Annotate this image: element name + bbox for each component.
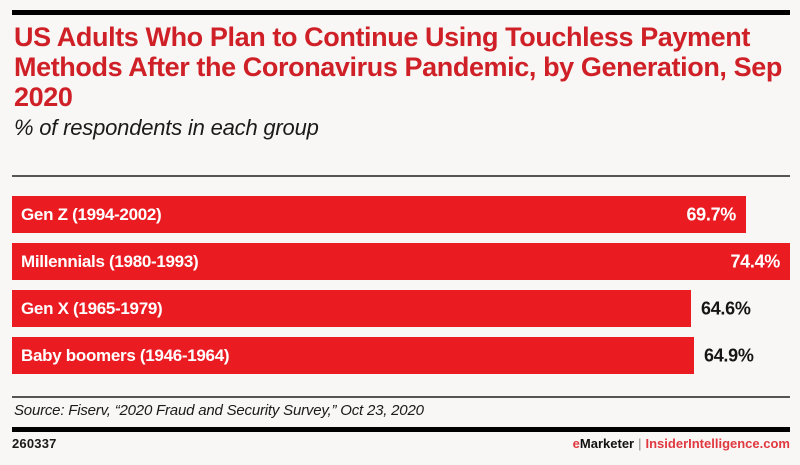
bar-millennials[interactable]: Millennials (1980-1993) 74.4% — [12, 243, 790, 280]
bar-value-label: 64.9% — [704, 345, 754, 366]
source-note: Source: Fiserv, “2020 Fraud and Security… — [14, 402, 424, 419]
brand-attribution: eMarketer|InsiderIntelligence.com — [573, 436, 790, 451]
chart-id-number: 260337 — [12, 436, 57, 451]
bar-row: Gen X (1965-1979) 64.6% — [12, 290, 790, 327]
bar-chart-plot-area: Gen Z (1994-2002) 69.7% Millennials (198… — [12, 196, 790, 376]
bar-baby-boomers[interactable]: Baby boomers (1946-1964) — [12, 337, 694, 374]
bar-value-label: 69.7% — [686, 204, 736, 225]
title-block: US Adults Who Plan to Continue Using Tou… — [14, 22, 784, 141]
footer: 260337 eMarketer|InsiderIntelligence.com — [12, 436, 790, 451]
emarketer-logo-e: e — [573, 436, 580, 451]
chart-subtitle: % of respondents in each group — [14, 115, 784, 141]
subtitle-divider-rule — [12, 175, 790, 177]
bar-gen-x[interactable]: Gen X (1965-1979) — [12, 290, 691, 327]
bar-row: Gen Z (1994-2002) 69.7% — [12, 196, 790, 233]
bar-category-label: Gen Z (1994-2002) — [12, 205, 161, 225]
bar-category-label: Gen X (1965-1979) — [12, 299, 162, 319]
bottom-divider-rule — [12, 427, 790, 432]
page-title: US Adults Who Plan to Continue Using Tou… — [14, 22, 784, 112]
insider-intelligence-site[interactable]: InsiderIntelligence.com — [646, 436, 791, 451]
bar-category-label: Baby boomers (1946-1964) — [12, 346, 229, 366]
bar-value-label: 64.6% — [701, 298, 751, 319]
bar-gen-z[interactable]: Gen Z (1994-2002) 69.7% — [12, 196, 746, 233]
top-divider-rule — [12, 10, 790, 15]
bar-category-label: Millennials (1980-1993) — [12, 252, 198, 272]
source-divider-rule — [12, 396, 790, 398]
chart-card: US Adults Who Plan to Continue Using Tou… — [0, 0, 800, 465]
bar-value-label: 74.4% — [730, 251, 780, 272]
bar-row: Millennials (1980-1993) 74.4% — [12, 243, 790, 280]
bar-row: Baby boomers (1946-1964) 64.9% — [12, 337, 790, 374]
emarketer-logo-text: Marketer — [580, 436, 634, 451]
brand-separator: | — [634, 436, 645, 451]
